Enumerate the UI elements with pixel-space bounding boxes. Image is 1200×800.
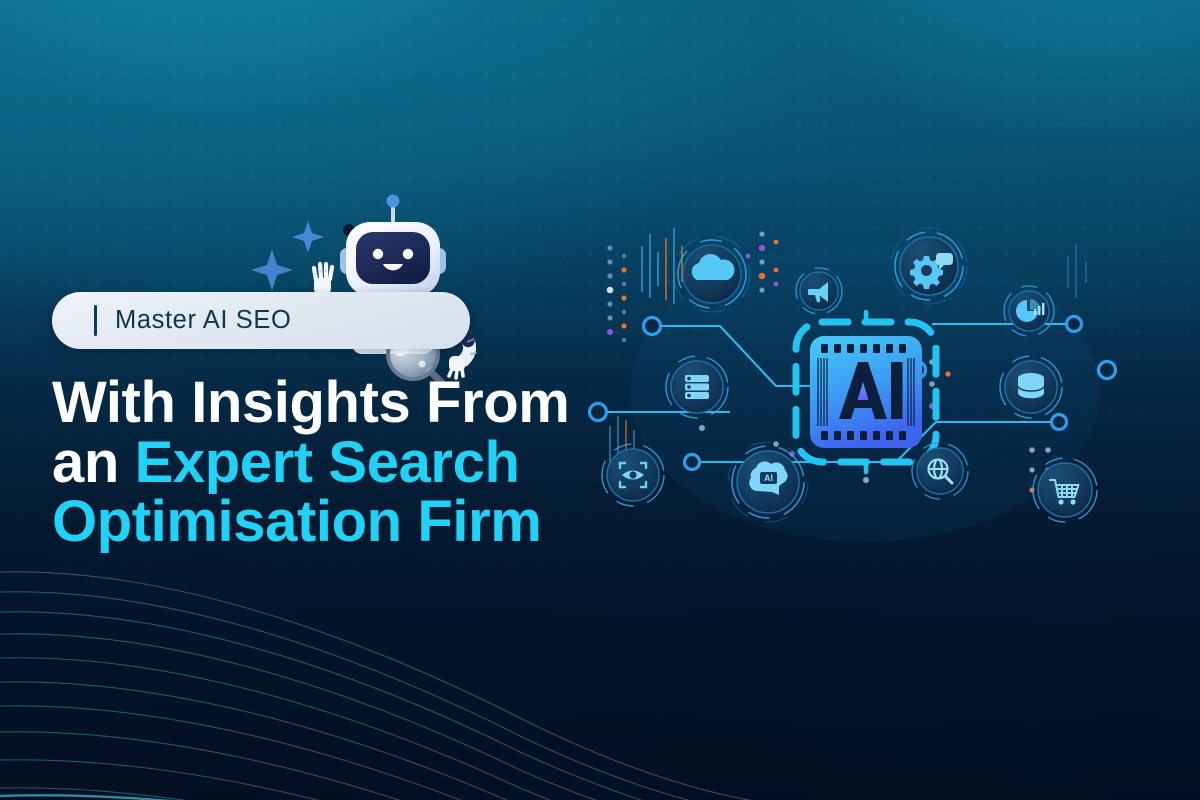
- headline-line-2-accent: Expert Search: [135, 430, 520, 495]
- badge-pill[interactable]: Master AI SEO: [52, 292, 470, 349]
- headline-line-2: an Expert Search: [52, 433, 672, 493]
- headline-line-2-plain: an: [52, 430, 135, 495]
- badge-divider: [94, 305, 97, 336]
- hero-copy: Master AI SEO With Insights From an Expe…: [52, 292, 672, 552]
- decorative-wave-lines: [0, 540, 760, 800]
- headline-line-3: Optimisation Firm: [52, 492, 672, 552]
- page-title: With Insights From an Expert Search Opti…: [52, 373, 672, 552]
- headline-line-1: With Insights From: [52, 373, 672, 433]
- svg-text:AI: AI: [764, 473, 773, 483]
- badge-label: Master AI SEO: [115, 306, 291, 335]
- hero-banner: AI: [0, 0, 1200, 800]
